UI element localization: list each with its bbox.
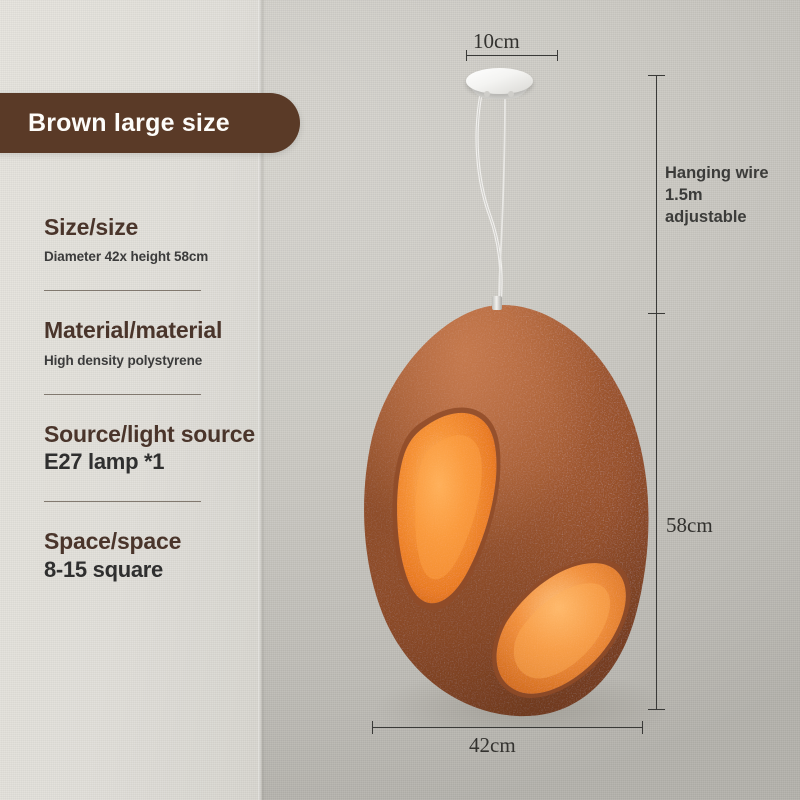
spec-heading-size: Size/size [44, 214, 254, 240]
dimension-label-hanging-wire: Hanging wire 1.5m adjustable [665, 163, 785, 229]
spec-item-material: Material/material High density polystyre… [44, 317, 254, 367]
spec-heading-space: Space/space [44, 528, 254, 554]
hanging-wire-line-2: 1.5m [665, 185, 785, 207]
hanging-wire-line-3: adjustable [665, 207, 785, 229]
dimension-line-vertical [656, 313, 657, 710]
spec-item-space: Space/space 8-15 square [44, 528, 254, 582]
product-infographic: Brown large size Size/size Diameter 42x … [0, 0, 800, 800]
hanging-wire-line-1: Hanging wire [665, 163, 785, 185]
dimension-label-canopy-width: 10cm [473, 29, 520, 54]
badge-label: Brown large size [28, 109, 230, 138]
canopy-cable-outlet-left [484, 91, 490, 97]
canopy-disc [466, 68, 533, 94]
spec-item-size: Size/size Diameter 42x height 58cm [44, 214, 254, 264]
dimension-tick-top [648, 313, 665, 314]
ceiling-canopy [466, 68, 533, 101]
dimension-tick-right [557, 50, 558, 61]
pendant-lamp-illustration [352, 292, 662, 728]
spec-divider-2 [44, 394, 201, 395]
dimension-tick-top [648, 75, 665, 76]
spec-heading-light-source: Source/light source [44, 421, 254, 447]
dimension-line-horizontal [466, 55, 558, 56]
dimension-tick-right [642, 721, 643, 734]
spec-divider-3 [44, 501, 201, 502]
canopy-cable-outlet-right [508, 91, 514, 97]
lamp-top-fitting [492, 296, 502, 310]
dimension-label-body-width: 42cm [469, 733, 516, 758]
product-variant-badge: Brown large size [0, 93, 300, 153]
spec-value-material: High density polystyrene [44, 353, 254, 368]
spec-item-light-source: Source/light source E27 lamp *1 [44, 421, 254, 475]
spec-value-space: 8-15 square [44, 557, 254, 583]
hanging-cables [460, 92, 550, 308]
spec-heading-material: Material/material [44, 317, 254, 343]
specification-list: Size/size Diameter 42x height 58cm Mater… [44, 214, 254, 583]
spec-value-light-source: E27 lamp *1 [44, 449, 254, 475]
spec-divider-1 [44, 290, 201, 291]
dimension-line-horizontal [372, 727, 643, 728]
dimension-tick-left [372, 721, 373, 734]
dimension-tick-bottom [648, 709, 665, 710]
power-cable [477, 94, 501, 304]
dimension-label-body-height: 58cm [666, 513, 713, 538]
dimension-tick-left [466, 50, 467, 61]
spec-value-size: Diameter 42x height 58cm [44, 249, 254, 264]
dimension-line-vertical [656, 75, 657, 313]
